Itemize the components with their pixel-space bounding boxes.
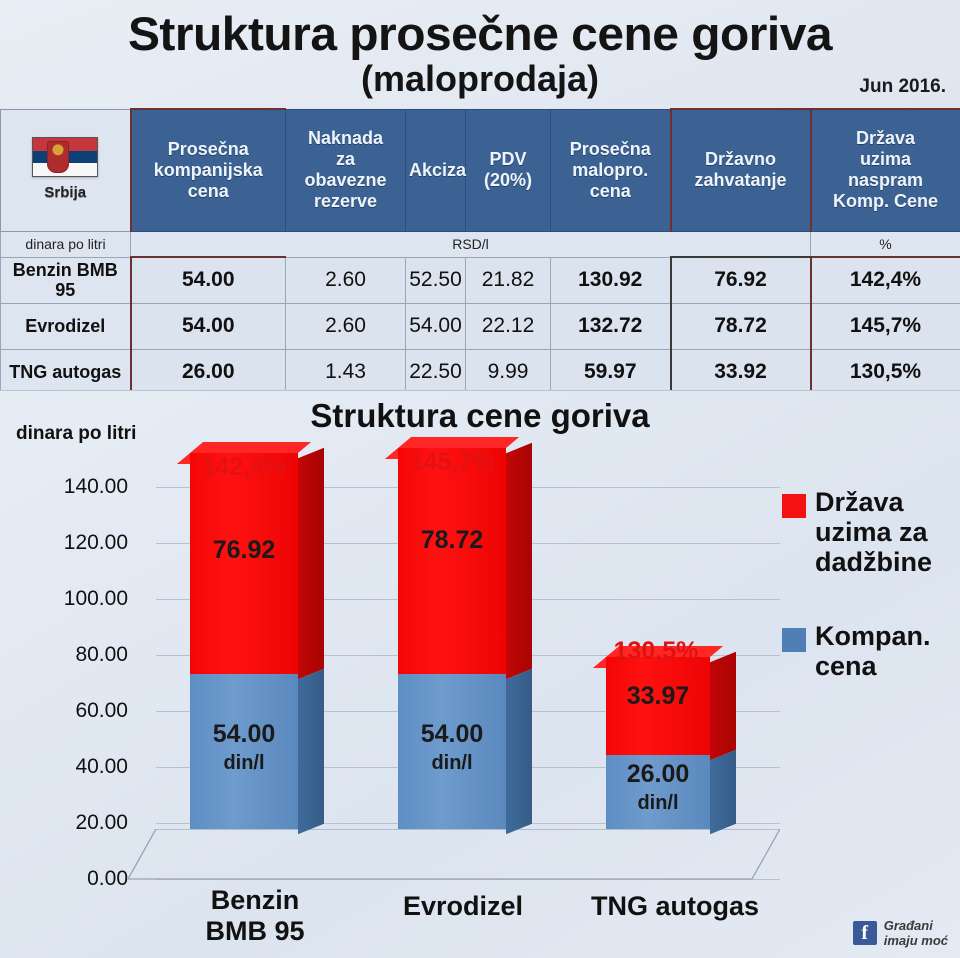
cell-reserve-fee: 2.60 [286, 257, 406, 303]
cell-excise: 54.00 [406, 303, 466, 349]
bar-annotation-tng: 130,5% [571, 637, 741, 666]
bar-value-red: 78.72 [398, 527, 506, 554]
cell-reserve-fee: 1.43 [286, 349, 406, 395]
cell-company-price: 54.00 [131, 303, 286, 349]
cell-state-take: 78.72 [671, 303, 811, 349]
fuel-price-table-wrap: Srbija Prosečna kompanijska cena Naknada… [0, 108, 960, 386]
bar-value-blue: 54.00 din/l [190, 721, 298, 777]
table-row: TNG autogas 26.00 1.43 22.50 9.99 59.97 … [1, 349, 960, 395]
bar-value-red: 33.97 [606, 683, 710, 710]
col-excise: Akciza [406, 109, 466, 231]
unit-percent-label: % [811, 231, 960, 257]
x-tick-tng: TNG autogas [565, 891, 785, 922]
col-retail-price: Prosečna malopro. cena [551, 109, 671, 231]
bar-value-red: 76.92 [190, 537, 298, 564]
cell-state-take: 33.92 [671, 349, 811, 395]
country-label: Srbija [44, 182, 86, 203]
row-label-tng: TNG autogas [1, 349, 131, 395]
y-tick: 0.00 [10, 867, 128, 891]
col-ratio: Država uzima naspram Komp. Cene [811, 109, 960, 231]
y-tick: 20.00 [10, 811, 128, 835]
col-company-price: Prosečna kompanijska cena [131, 109, 286, 231]
cell-vat: 21.82 [466, 257, 551, 303]
bar-value-blue: 26.00 din/l [606, 761, 710, 817]
y-tick: 120.00 [10, 531, 128, 555]
legend-item-state: Država uzima za dadžbine [782, 487, 960, 577]
unit-dinars-label: dinara po litri [1, 231, 131, 257]
cell-vat: 9.99 [466, 349, 551, 395]
chart-title: Struktura cene goriva [0, 397, 960, 435]
row-label-benzin: Benzin BMB95 [1, 257, 131, 303]
row-label-evrodizel: Evrodizel [1, 303, 131, 349]
bar-evrodizel: 78.72 54.00 din/l [398, 448, 506, 829]
cell-company-price: 26.00 [131, 349, 286, 395]
legend-label-state: Država uzima za dadžbine [815, 487, 932, 577]
page-title: Struktura prosečne cene goriva [0, 8, 960, 60]
bar-value-blue: 54.00 din/l [398, 721, 506, 777]
cell-state-take: 76.92 [671, 257, 811, 303]
cell-ratio: 130,5% [811, 349, 960, 395]
x-tick-evrodizel: Evrodizel [353, 891, 573, 922]
legend-item-company: Kompan. cena [782, 621, 960, 681]
table-row: Benzin BMB95 54.00 2.60 52.50 21.82 130.… [1, 257, 960, 303]
legend-swatch-blue-icon [782, 628, 806, 652]
cell-reserve-fee: 2.60 [286, 303, 406, 349]
page-subtitle: (maloprodaja) [0, 58, 960, 100]
y-tick: 80.00 [10, 643, 128, 667]
facebook-page-name: Građani imaju moć [884, 918, 948, 948]
unit-rsd-label: RSD/l [131, 231, 811, 257]
col-state-take: Državno zahvatanje [671, 109, 811, 231]
table-units-row: dinara po litri RSD/l % [1, 231, 960, 257]
plot-floor [128, 829, 780, 881]
table-header-row: Srbija Prosečna kompanijska cena Naknada… [1, 109, 960, 231]
chart-panel: Struktura cene goriva dinara po litri 14… [0, 390, 960, 958]
cell-vat: 22.12 [466, 303, 551, 349]
bar-benzin: 76.92 54.00 din/l [190, 453, 298, 829]
serbia-flag-icon [32, 137, 98, 177]
facebook-icon[interactable]: f [853, 921, 877, 945]
bar-tng: 33.97 26.00 din/l [606, 657, 710, 829]
y-tick: 60.00 [10, 699, 128, 723]
cell-ratio: 142,4% [811, 257, 960, 303]
legend-label-company: Kompan. cena [815, 621, 931, 681]
country-cell: Srbija [1, 109, 131, 231]
y-tick: 40.00 [10, 755, 128, 779]
cell-retail-price: 132.72 [551, 303, 671, 349]
bar-annotation-evrodizel: 145,7% [367, 448, 537, 477]
date-label: Jun 2016. [859, 76, 946, 98]
cell-company-price: 54.00 [131, 257, 286, 303]
plot-area: 76.92 54.00 din/l 142,4% 78.72 54.00 din… [128, 477, 780, 881]
y-tick: 140.00 [10, 475, 128, 499]
bar-annotation-benzin: 142,4% [159, 453, 329, 482]
fuel-price-table: Srbija Prosečna kompanijska cena Naknada… [0, 108, 960, 396]
title-block: Struktura prosečne cene goriva (maloprod… [0, 0, 960, 108]
cell-retail-price: 130.92 [551, 257, 671, 303]
y-tick: 100.00 [10, 587, 128, 611]
col-reserve-fee: Naknada za obavezne rezerve [286, 109, 406, 231]
cell-excise: 22.50 [406, 349, 466, 395]
infographic-root: Struktura prosečne cene goriva (maloprod… [0, 0, 960, 958]
cell-excise: 52.50 [406, 257, 466, 303]
x-tick-benzin: BenzinBMB 95 [145, 885, 365, 947]
chart-legend: Država uzima za dadžbine Kompan. cena [782, 487, 960, 725]
cell-retail-price: 59.97 [551, 349, 671, 395]
y-axis: 140.00 120.00 100.00 80.00 60.00 40.00 2… [0, 391, 128, 958]
cell-ratio: 145,7% [811, 303, 960, 349]
col-vat: PDV (20%) [466, 109, 551, 231]
facebook-credit[interactable]: f Građani imaju moć [853, 918, 948, 948]
table-row: Evrodizel 54.00 2.60 54.00 22.12 132.72 … [1, 303, 960, 349]
legend-swatch-red-icon [782, 494, 806, 518]
